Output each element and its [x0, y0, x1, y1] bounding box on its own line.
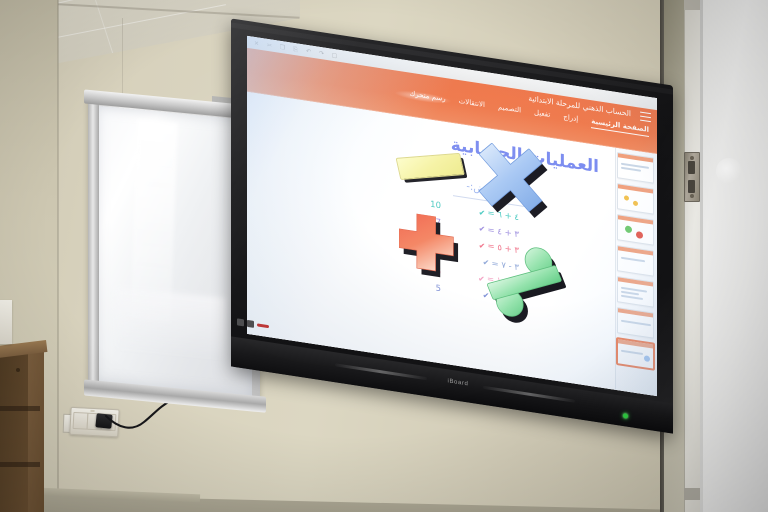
thumb-shape	[624, 195, 629, 201]
plus-symbol	[399, 211, 459, 282]
power-led-indicator	[623, 413, 628, 419]
tab-insert[interactable]: إدراج	[563, 113, 578, 126]
slide-thumbnail[interactable]	[617, 183, 654, 215]
slide-thumbnail[interactable]	[617, 307, 654, 339]
present-icon[interactable]: ▢	[331, 51, 338, 59]
whiteboard-surface[interactable]	[96, 106, 252, 397]
tab-activate[interactable]: تفعيل	[534, 108, 550, 121]
thumb-shape	[636, 231, 643, 239]
speaker-grille	[483, 386, 575, 403]
classroom-scene: ✕ ✂ ❐ ⎘ ↶ ↷ ▢ الحساب الذهني للمرحلة الاب…	[0, 0, 768, 512]
whiteboard-left-post	[88, 92, 99, 393]
close-icon[interactable]: ✕	[253, 39, 260, 47]
speaker-grille	[335, 363, 427, 380]
thumb-header	[618, 184, 653, 193]
cut-icon[interactable]: ✂	[266, 41, 273, 49]
thumb-shape	[625, 225, 632, 233]
copy-icon[interactable]: ❐	[279, 43, 286, 51]
thumb-header	[618, 308, 653, 317]
slide-thumbnail[interactable]	[617, 152, 654, 184]
thumb-line	[621, 350, 643, 355]
times-symbol	[479, 141, 553, 226]
slide-thumbnail-panel[interactable]	[615, 148, 657, 396]
door-strike-plate	[684, 152, 700, 202]
display-screen[interactable]: ✕ ✂ ❐ ⎘ ↶ ↷ ▢ الحساب الذهني للمرحلة الاب…	[247, 36, 657, 396]
thumb-line	[621, 257, 645, 262]
door-edge	[700, 0, 703, 512]
paper-stack	[0, 300, 12, 344]
thumb-header	[618, 339, 653, 348]
redo-icon[interactable]: ↷	[318, 49, 325, 57]
power-button[interactable]	[257, 323, 269, 328]
minus-symbol	[396, 153, 463, 178]
cabinet-knob[interactable]	[16, 368, 20, 372]
cabinet-interior	[0, 352, 28, 512]
divide-symbol	[485, 236, 569, 333]
strike-screw	[690, 194, 694, 198]
tab-animation[interactable]: رسم متحرك	[410, 90, 446, 106]
input-button[interactable]	[237, 318, 244, 326]
strike-screw	[690, 156, 694, 160]
presentation-app[interactable]: ✕ ✂ ❐ ⎘ ↶ ↷ ▢ الحساب الذهني للمرحلة الاب…	[247, 36, 657, 396]
thumb-header	[618, 246, 653, 255]
interactive-flat-panel-display[interactable]: ✕ ✂ ❐ ⎘ ↶ ↷ ▢ الحساب الذهني للمرحلة الاب…	[231, 52, 673, 464]
outlet-indicator	[90, 410, 94, 412]
thumb-line	[621, 320, 651, 326]
door-highlight	[716, 158, 742, 184]
thumb-header	[618, 277, 653, 286]
tab-transitions[interactable]: الانتقالات	[459, 97, 485, 112]
thumb-shape	[644, 355, 650, 362]
hamburger-icon[interactable]	[640, 112, 651, 123]
cabinet-shelf	[0, 462, 40, 467]
display-brand-logo: iBoard	[436, 374, 480, 393]
thumb-line	[621, 295, 643, 300]
paste-icon[interactable]: ⎘	[292, 45, 299, 53]
whiteboard-glare	[116, 287, 226, 357]
thumb-header	[618, 215, 653, 224]
power-cable	[104, 398, 174, 446]
thumb-shape	[633, 201, 638, 207]
slide-thumbnail[interactable]	[617, 276, 654, 308]
cabinet-shelf	[0, 406, 40, 411]
tab-design[interactable]: التصميم	[498, 103, 521, 118]
strike-hole	[688, 161, 695, 174]
classroom-door[interactable]	[700, 0, 768, 512]
wall-corner	[57, 0, 59, 512]
thumb-header	[618, 153, 653, 162]
slide-thumbnail[interactable]	[617, 245, 654, 277]
menu-button[interactable]	[247, 319, 254, 327]
slide-thumbnail[interactable]	[617, 214, 654, 246]
thumb-line	[621, 167, 641, 172]
undo-icon[interactable]: ↶	[305, 47, 312, 55]
slide-thumbnail-selected[interactable]	[617, 338, 654, 370]
answer-value: 10	[430, 200, 441, 212]
check-icon: ✔	[476, 224, 487, 235]
answer-value: 5	[430, 282, 441, 294]
strike-hole	[688, 180, 695, 193]
